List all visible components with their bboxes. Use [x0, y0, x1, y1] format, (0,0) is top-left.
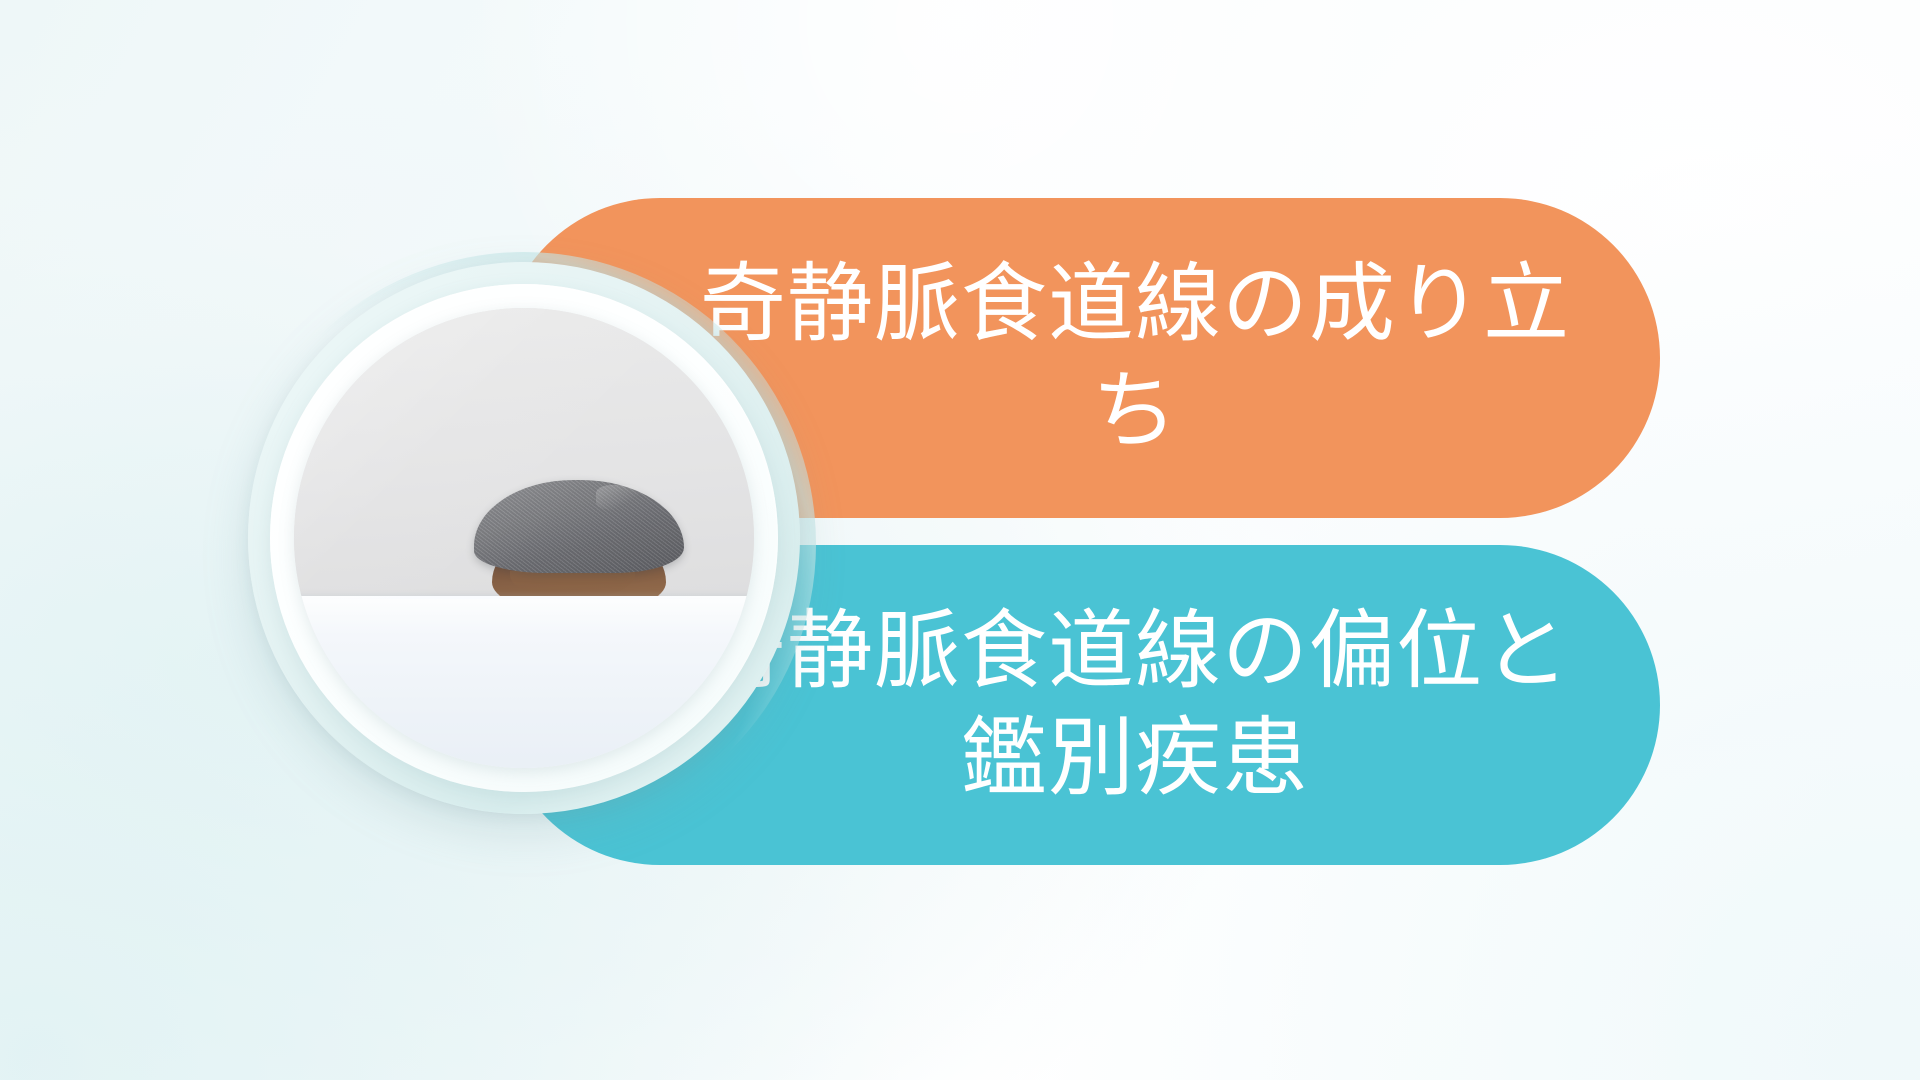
flat-cap-icon	[474, 480, 684, 573]
topic-pill-blue-label: 奇静脈食道線の偏位と 鑑別疾患	[670, 598, 1600, 811]
topic-pill-orange-label: 奇静脈食道線の成り立ち	[670, 251, 1600, 464]
badge-photo-disc	[294, 308, 754, 768]
slide-canvas: 奇静脈食道線の成り立ち 奇静脈食道線の偏位と 鑑別疾患	[0, 0, 1920, 1080]
flat-cap-highlight	[596, 485, 642, 509]
photo-foreground-table	[294, 596, 754, 769]
circular-photo-badge	[248, 262, 800, 814]
